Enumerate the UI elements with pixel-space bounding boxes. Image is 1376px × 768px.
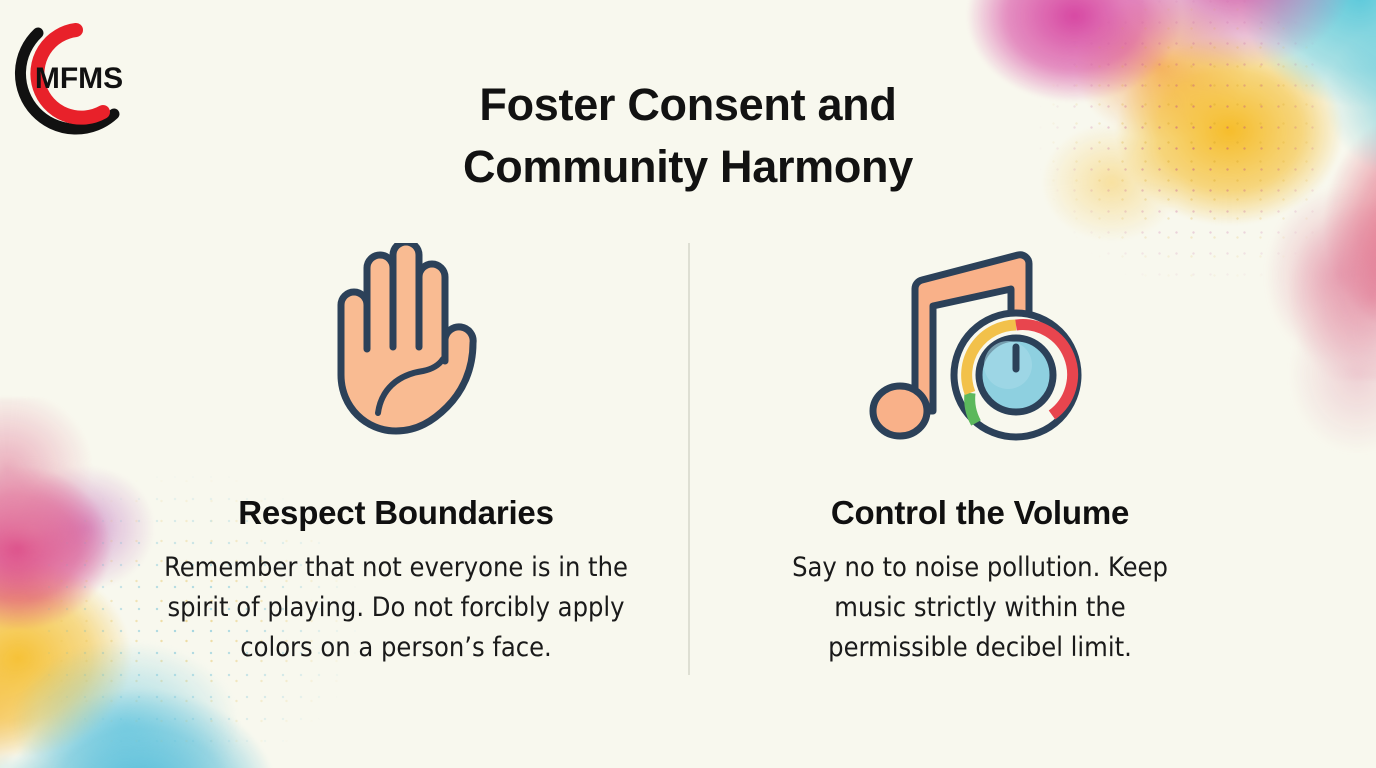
- card-control-the-volume: Control the Volume Say no to noise pollu…: [700, 243, 1260, 668]
- music-note-volume-knob-icon: [868, 243, 1093, 448]
- card-title-control-the-volume: Control the Volume: [831, 494, 1129, 532]
- page-title-line-1: Foster Consent and: [0, 74, 1376, 136]
- page-title: Foster Consent and Community Harmony: [0, 74, 1376, 198]
- open-palm-hand-icon: [306, 243, 486, 448]
- infographic-canvas: MFMS Foster Consent and Community Harmon…: [0, 0, 1376, 768]
- open-palm-hand-icon-wrap: [306, 243, 486, 448]
- column-divider: [688, 243, 690, 675]
- card-body-control-the-volume: Say no to noise pollution. Keep music st…: [770, 548, 1190, 668]
- card-respect-boundaries: Respect Boundaries Remember that not eve…: [116, 243, 676, 668]
- music-note-volume-knob-icon-wrap: [868, 243, 1093, 448]
- card-body-respect-boundaries: Remember that not everyone is in the spi…: [161, 548, 631, 668]
- card-title-respect-boundaries: Respect Boundaries: [238, 494, 554, 532]
- page-title-line-2: Community Harmony: [0, 136, 1376, 198]
